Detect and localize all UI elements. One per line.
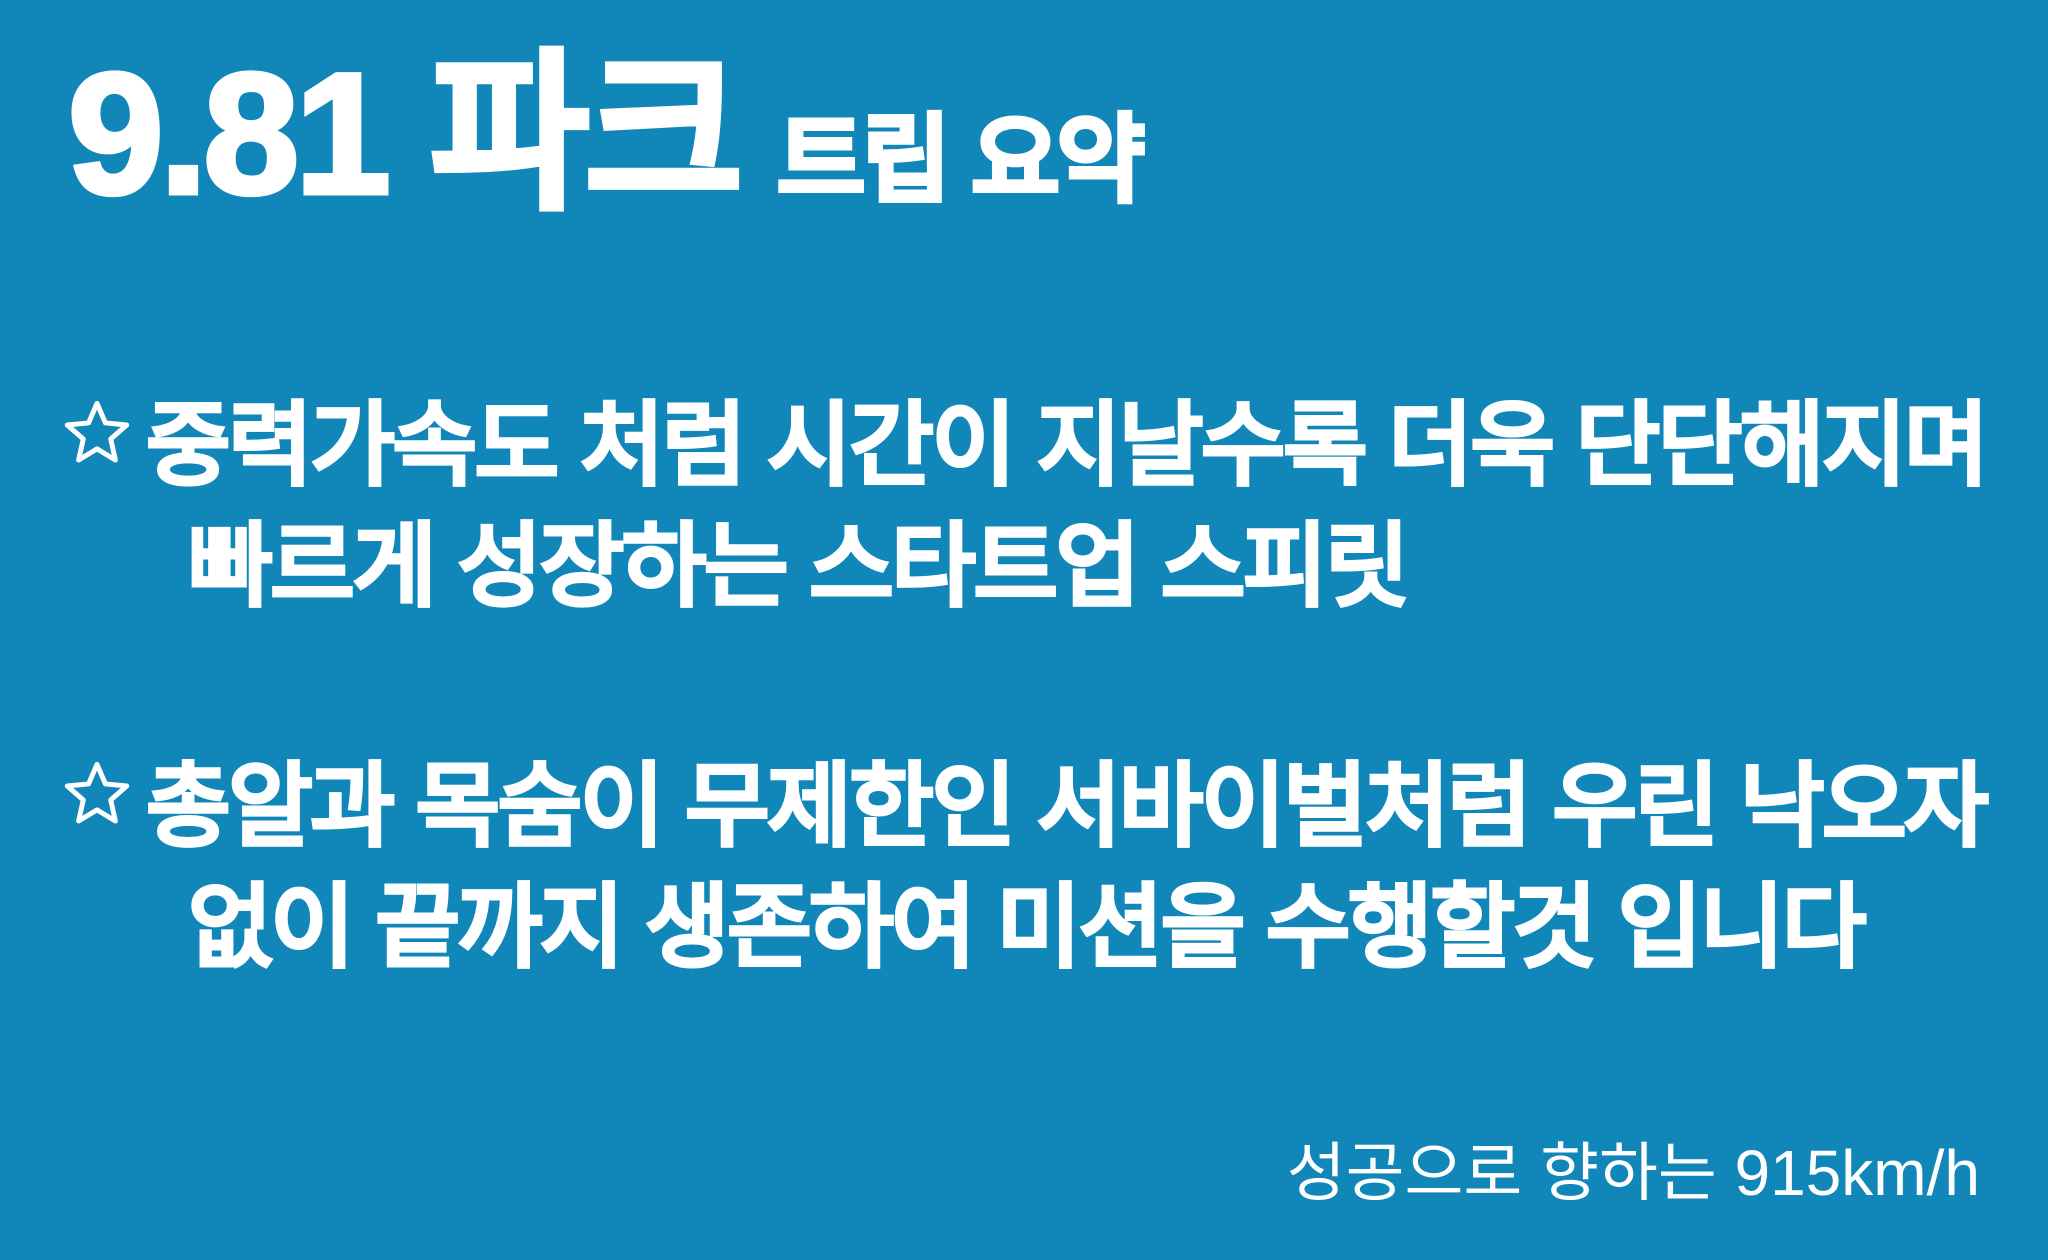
bullet-text-line2: 빠르게 성장하는 스타트업 스피릿: [188, 507, 2000, 628]
list-item: 총알과 목숨이 무제한인 서바이벌처럼 우린 낙오자 없이 끝까지 생존하여 미…: [60, 747, 2000, 990]
title-main-text: 9.81 파크: [68, 44, 739, 225]
footer-tagline: 성공으로 향하는 915km/h: [1287, 1138, 1980, 1208]
star-icon: [60, 386, 134, 478]
bullet-text-line2: 없이 끝까지 생존하여 미션을 수행할것 입니다: [188, 868, 2000, 989]
page-title: 9.81 파크 트립 요약: [68, 44, 1142, 225]
bullet-list: 중력가속도 처럼 시간이 지날수록 더욱 단단해지며 빠르게 성장하는 스타트업…: [60, 386, 2000, 990]
title-sub-text: 트립 요약: [777, 111, 1142, 212]
star-icon: [60, 747, 134, 839]
bullet-first-line: 총알과 목숨이 무제한인 서바이벌처럼 우린 낙오자: [60, 747, 2000, 868]
bullet-text-line1: 총알과 목숨이 무제한인 서바이벌처럼 우린 낙오자: [146, 747, 1986, 868]
bullet-first-line: 중력가속도 처럼 시간이 지날수록 더욱 단단해지며: [60, 386, 2000, 507]
list-item: 중력가속도 처럼 시간이 지날수록 더욱 단단해지며 빠르게 성장하는 스타트업…: [60, 386, 2000, 629]
bullet-text-line1: 중력가속도 처럼 시간이 지날수록 더욱 단단해지며: [146, 386, 1986, 507]
slide-canvas: 9.81 파크 트립 요약 중력가속도 처럼 시간이 지날수록 더욱 단단해지며…: [0, 0, 2048, 1260]
